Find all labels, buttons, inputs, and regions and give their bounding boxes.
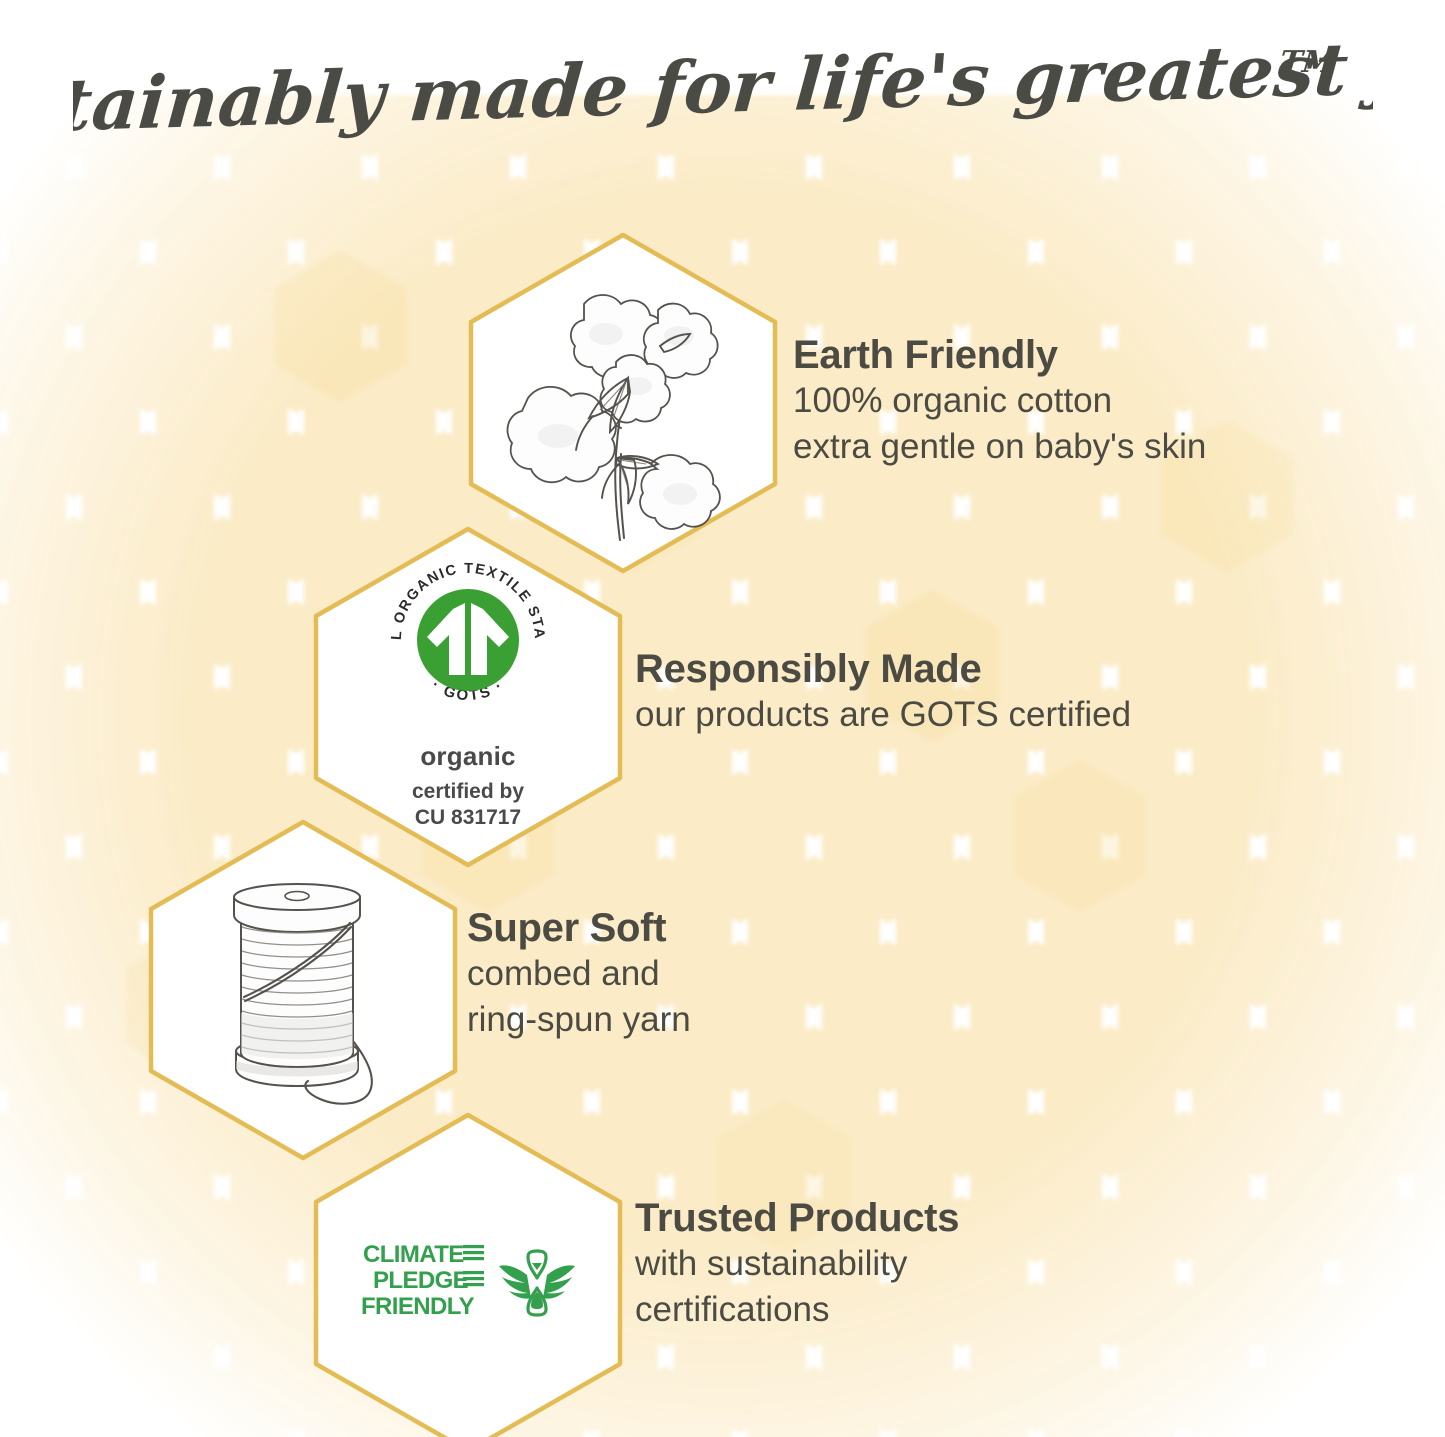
feature-text-responsibly-made: Responsibly Made our products are GOTS c… <box>635 647 1131 738</box>
feature-title: Earth Friendly <box>793 333 1206 378</box>
headline-script-text: sustainably made for life's greatest joy… <box>73 34 1373 144</box>
feature-line-2: certifications <box>635 1287 959 1333</box>
cpf-line-1: CLIMATE <box>363 1241 464 1268</box>
gots-certification-icon: GLOBAL ORGANIC TEXTILE STANDARD · GOTS · <box>379 551 557 729</box>
feature-line-1: our products are GOTS certified <box>635 692 1131 738</box>
infographic-canvas: sustainably made for life's greatest joy… <box>0 0 1445 1437</box>
feature-line-1: 100% organic cotton <box>793 378 1206 424</box>
headline-text: sustainably made for life's greatest joy <box>73 34 1373 144</box>
feature-title: Trusted Products <box>635 1196 959 1241</box>
winged-hourglass-icon <box>497 1247 577 1319</box>
feature-text-super-soft: Super Soft combed and ring-spun yarn <box>467 906 691 1043</box>
feature-line-2: extra gentle on baby's skin <box>793 424 1206 470</box>
hex-card-trusted-products: CLIMATE PLEDGE FRIENDLY <box>303 1108 633 1437</box>
thread-spool-sketch-icon <box>178 865 428 1115</box>
gots-certified-by: certified by <box>412 779 524 805</box>
feature-title: Super Soft <box>467 906 691 951</box>
feature-line-1: with sustainability <box>635 1241 959 1287</box>
hex-content-climate-pledge: CLIMATE PLEDGE FRIENDLY <box>303 1108 633 1437</box>
feature-title: Responsibly Made <box>635 647 1131 692</box>
gots-organic-label: organic <box>420 741 515 772</box>
cotton-plant-sketch-icon <box>488 258 758 548</box>
cpf-line-2: PLEDGE <box>373 1267 469 1294</box>
cpf-line-3: FRIENDLY <box>361 1293 475 1320</box>
headline: sustainably made for life's greatest joy… <box>0 34 1445 144</box>
feature-text-trusted-products: Trusted Products with sustainability cer… <box>635 1196 959 1333</box>
climate-pledge-wordmark: CLIMATE PLEDGE FRIENDLY <box>359 1240 487 1326</box>
gots-badge: GLOBAL ORGANIC TEXTILE STANDARD · GOTS · <box>379 551 557 830</box>
climate-pledge-friendly-icon: CLIMATE PLEDGE FRIENDLY <box>359 1240 577 1326</box>
feature-line-2: ring-spun yarn <box>467 997 691 1043</box>
cpf-bar-accents <box>463 1245 484 1286</box>
feature-text-earth-friendly: Earth Friendly 100% organic cotton extra… <box>793 333 1206 470</box>
feature-line-1: combed and <box>467 951 691 997</box>
headline-trademark: TM <box>1278 45 1339 80</box>
